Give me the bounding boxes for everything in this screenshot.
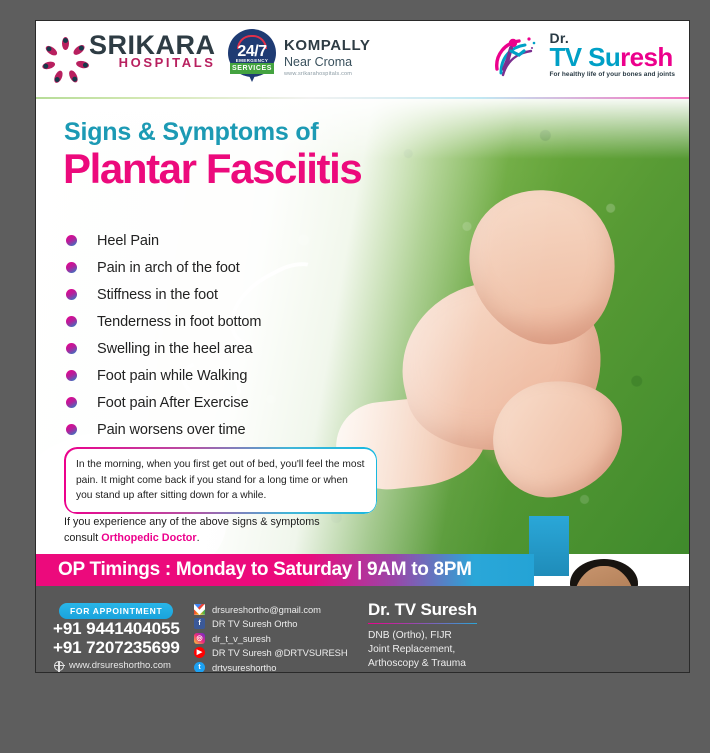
- youtube-icon: ▶: [194, 647, 205, 658]
- website-label: www.drsureshortho.com: [69, 660, 171, 671]
- social-item-youtube[interactable]: ▶ DR TV Suresh @DRTVSURESH: [194, 646, 348, 661]
- doctor-info: Dr. TV Suresh DNB (Ortho), FIJR Joint Re…: [368, 600, 477, 673]
- social-item-twitter[interactable]: t drtvsureshortho: [194, 660, 348, 673]
- consult-note: If you experience any of the above signs…: [64, 515, 320, 546]
- symptom-label: Heel Pain: [97, 233, 159, 249]
- symptom-label: Pain worsens over time: [97, 422, 246, 438]
- dr-logo-name-part1: TV Su: [549, 42, 620, 72]
- bullet-icon: [66, 424, 77, 435]
- symptom-label: Foot pain After Exercise: [97, 395, 249, 411]
- phone-number-1[interactable]: +91 9441404055: [53, 619, 180, 639]
- callout-text: In the morning, when you first get out o…: [76, 457, 365, 504]
- social-item-instagram[interactable]: ◎ dr_t_v_suresh: [194, 631, 348, 646]
- srikara-flower-icon: [48, 34, 82, 68]
- header-divider: [36, 97, 689, 99]
- bullet-icon: [66, 397, 77, 408]
- bullet-icon: [66, 262, 77, 273]
- bullet-icon: [66, 370, 77, 381]
- branch-name: KOMPALLY: [284, 37, 370, 54]
- instagram-icon: ◎: [194, 633, 205, 644]
- srikara-wordmark: SRIKARA HOSPITALS: [89, 33, 216, 69]
- phone-number-2[interactable]: +91 7207235699: [53, 638, 180, 658]
- symptom-label: Tenderness in foot bottom: [97, 314, 261, 330]
- social-label: DR TV Suresh Ortho: [212, 618, 297, 629]
- symptom-label: Swelling in the heel area: [97, 341, 253, 357]
- dr-logo-wordmark: Dr. TV Suresh For healthy life of your b…: [549, 31, 675, 79]
- globe-icon: [54, 661, 64, 671]
- list-item: Pain in arch of the foot: [66, 254, 261, 281]
- list-item: Stiffness in the foot: [66, 281, 261, 308]
- gmail-icon: [194, 604, 205, 615]
- op-timings-text: OP Timings : Monday to Saturday | 9AM to…: [58, 554, 472, 586]
- op-timings-banner: OP Timings : Monday to Saturday | 9AM to…: [36, 554, 534, 586]
- consult-prefix: consult: [64, 532, 101, 544]
- bullet-icon: [66, 235, 77, 246]
- social-label: dr_t_v_suresh: [212, 633, 271, 644]
- social-label: drtvsureshortho: [212, 662, 276, 673]
- poster-card: SRIKARA HOSPITALS 24/7 EMERGENCY SERVICE…: [35, 20, 690, 673]
- title-subheading: Signs & Symptoms of: [64, 118, 319, 147]
- social-label: DR TV Suresh @DRTVSURESH: [212, 647, 348, 658]
- symptom-label: Stiffness in the foot: [97, 287, 218, 303]
- website-link[interactable]: www.drsureshortho.com: [54, 660, 171, 671]
- doctor-name: Dr. TV Suresh: [368, 600, 477, 624]
- list-item: Tenderness in foot bottom: [66, 308, 261, 335]
- bullet-icon: [66, 343, 77, 354]
- list-item: Foot pain while Walking: [66, 362, 261, 389]
- list-item: Foot pain After Exercise: [66, 389, 261, 416]
- social-label: drsureshortho@gmail.com: [212, 604, 321, 615]
- srikara-hospitals-logo: SRIKARA HOSPITALS: [48, 33, 216, 69]
- list-item: Heel Pain: [66, 227, 261, 254]
- list-item: Swelling in the heel area: [66, 335, 261, 362]
- dr-logo-tagline: For healthy life of your bones and joint…: [549, 72, 675, 79]
- facebook-icon: f: [194, 618, 205, 629]
- dr-tv-suresh-logo: Dr. TV Suresh For healthy life of your b…: [491, 29, 675, 81]
- consult-line1: If you experience any of the above signs…: [64, 516, 320, 528]
- emergency-services-badge: 24/7 EMERGENCY SERVICES KOMPALLY Near Cr…: [228, 29, 370, 85]
- dr-logo-name-part2: resh: [620, 42, 673, 72]
- social-item-facebook[interactable]: f DR TV Suresh Ortho: [194, 617, 348, 632]
- branch-landmark: Near Croma: [284, 55, 370, 69]
- twitter-icon: t: [194, 662, 205, 673]
- bullet-icon: [66, 316, 77, 327]
- consult-highlight: Orthopedic Doctor: [101, 532, 196, 544]
- dr-logo-name: TV Suresh: [549, 44, 675, 70]
- services-label: SERVICES: [230, 63, 274, 74]
- branch-info: KOMPALLY Near Croma www.srikarahospitals…: [284, 37, 370, 77]
- symptom-label: Pain in arch of the foot: [97, 260, 240, 276]
- symptom-label: Foot pain while Walking: [97, 368, 247, 384]
- poster-header: SRIKARA HOSPITALS 24/7 EMERGENCY SERVICE…: [36, 21, 689, 97]
- bullet-icon: [66, 289, 77, 300]
- map-pin-icon: 24/7 EMERGENCY SERVICES: [228, 29, 276, 85]
- symptom-list: Heel Pain Pain in arch of the foot Stiff…: [66, 227, 261, 443]
- social-item-gmail[interactable]: drsureshortho@gmail.com: [194, 602, 348, 617]
- running-person-icon: [491, 29, 543, 81]
- hospital-website: www.srikarahospitals.com: [284, 71, 370, 77]
- poster-footer: FOR APPOINTMENT +91 9441404055 +91 72072…: [36, 586, 689, 673]
- social-links: drsureshortho@gmail.com f DR TV Suresh O…: [194, 602, 348, 673]
- page-title: Plantar Fasciitis: [63, 145, 361, 193]
- consult-suffix: .: [197, 532, 200, 544]
- doctor-credentials: DNB (Ortho), FIJR Joint Replacement, Art…: [368, 629, 477, 673]
- callout-box: In the morning, when you first get out o…: [64, 447, 377, 514]
- list-item: Pain worsens over time: [66, 416, 261, 443]
- appointment-badge: FOR APPOINTMENT: [59, 603, 173, 619]
